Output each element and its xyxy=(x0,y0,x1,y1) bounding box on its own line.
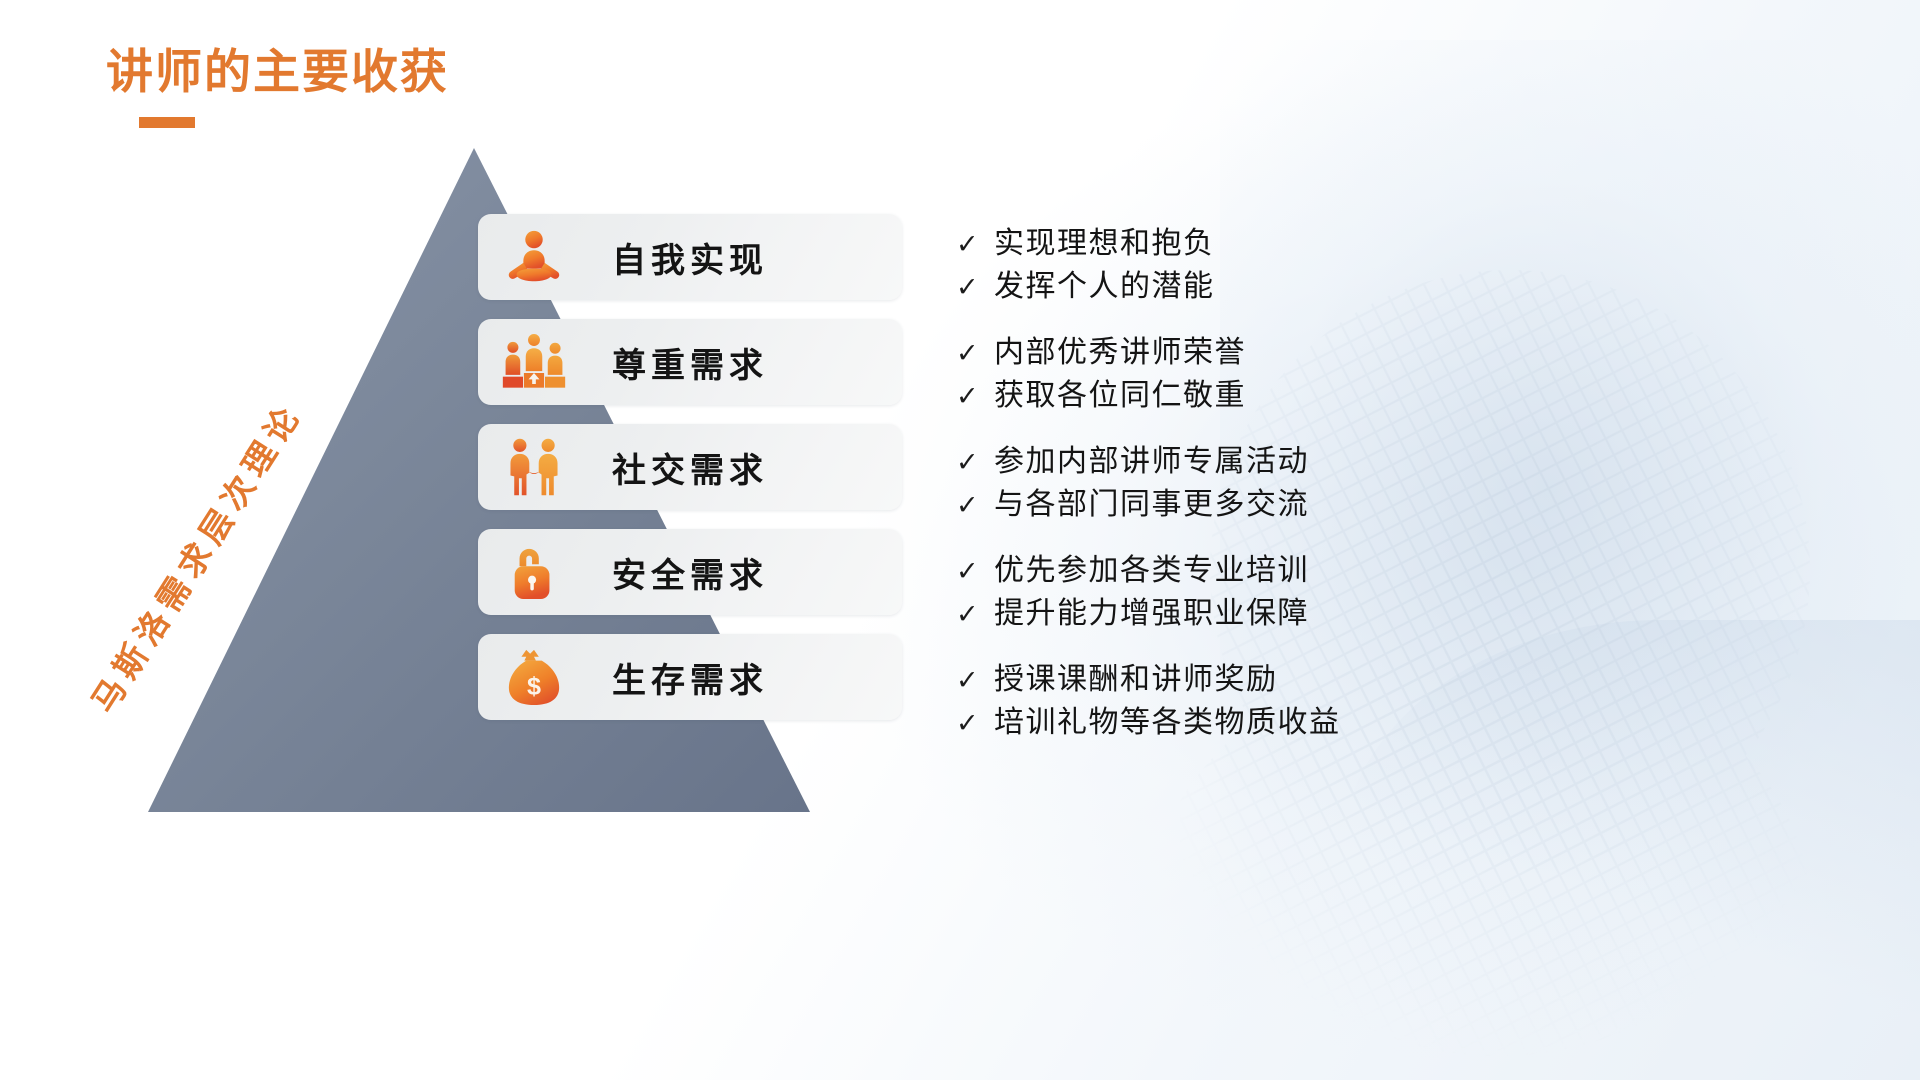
benefit-text: 获取各位同仁敬重 xyxy=(994,374,1246,417)
benefit-item: ✓ 内部优秀讲师荣誉 xyxy=(956,331,1516,374)
benefits-list: ✓ 实现理想和抱负 ✓ 发挥个人的潜能 ✓ 内部优秀讲师荣誉 ✓ 获取各位同仁敬… xyxy=(956,222,1516,767)
needs-level-row[interactable]: $ 生存需求 xyxy=(478,634,902,720)
benefit-group: ✓ 实现理想和抱负 ✓ 发挥个人的潜能 xyxy=(956,222,1516,308)
needs-level-list: 自我实现 xyxy=(478,214,902,739)
benefit-text: 提升能力增强职业保障 xyxy=(994,592,1309,635)
check-icon: ✓ xyxy=(956,659,994,702)
benefit-text: 内部优秀讲师荣誉 xyxy=(994,331,1246,374)
benefit-text: 发挥个人的潜能 xyxy=(994,265,1215,308)
benefit-item: ✓ 培训礼物等各类物质收益 xyxy=(956,701,1516,744)
benefit-text: 授课课酬和讲师奖励 xyxy=(994,658,1278,701)
benefit-item: ✓ 获取各位同仁敬重 xyxy=(956,374,1516,417)
svg-text:$: $ xyxy=(527,672,541,700)
benefit-group: ✓ 参加内部讲师专属活动 ✓ 与各部门同事更多交流 xyxy=(956,440,1516,526)
check-icon: ✓ xyxy=(956,593,994,636)
needs-level-row[interactable]: 自我实现 xyxy=(478,214,902,300)
needs-level-label: 自我实现 xyxy=(612,233,768,282)
benefit-text: 与各部门同事更多交流 xyxy=(994,483,1309,526)
check-icon: ✓ xyxy=(956,550,994,593)
title-underline-accent xyxy=(139,117,195,128)
benefit-group: ✓ 内部优秀讲师荣誉 ✓ 获取各位同仁敬重 xyxy=(956,331,1516,417)
benefit-text: 优先参加各类专业培训 xyxy=(994,549,1309,592)
money-bag-icon: $ xyxy=(478,634,590,720)
check-icon: ✓ xyxy=(956,702,994,745)
check-icon: ✓ xyxy=(956,441,994,484)
benefit-item: ✓ 优先参加各类专业培训 xyxy=(956,549,1516,592)
padlock-icon xyxy=(478,529,590,615)
needs-level-label: 安全需求 xyxy=(612,548,768,597)
check-icon: ✓ xyxy=(956,484,994,527)
benefit-item: ✓ 授课课酬和讲师奖励 xyxy=(956,658,1516,701)
benefit-item: ✓ 发挥个人的潜能 xyxy=(956,265,1516,308)
page-title: 讲师的主要收获 xyxy=(106,33,449,102)
benefit-text: 参加内部讲师专属活动 xyxy=(994,440,1309,483)
check-icon: ✓ xyxy=(956,332,994,375)
needs-level-label: 社交需求 xyxy=(612,443,768,492)
podium-icon xyxy=(478,319,590,405)
benefit-group: ✓ 授课课酬和讲师奖励 ✓ 培训礼物等各类物质收益 xyxy=(956,658,1516,744)
benefit-group: ✓ 优先参加各类专业培训 ✓ 提升能力增强职业保障 xyxy=(956,549,1516,635)
needs-level-row[interactable]: 尊重需求 xyxy=(478,319,902,405)
benefit-text: 培训礼物等各类物质收益 xyxy=(994,701,1341,744)
benefit-text: 实现理想和抱负 xyxy=(994,222,1215,265)
benefit-item: ✓ 参加内部讲师专属活动 xyxy=(956,440,1516,483)
check-icon: ✓ xyxy=(956,375,994,418)
slide-canvas: 讲师的主要收获 马斯洛需求层次理论 xyxy=(0,0,1920,1080)
benefit-item: ✓ 与各部门同事更多交流 xyxy=(956,483,1516,526)
needs-level-label: 生存需求 xyxy=(612,653,768,702)
needs-level-label: 尊重需求 xyxy=(612,338,768,387)
meditation-icon xyxy=(478,214,590,300)
benefit-item: ✓ 提升能力增强职业保障 xyxy=(956,592,1516,635)
handshake-icon xyxy=(478,424,590,510)
check-icon: ✓ xyxy=(956,266,994,309)
needs-level-row[interactable]: 社交需求 xyxy=(478,424,902,510)
needs-level-row[interactable]: 安全需求 xyxy=(478,529,902,615)
check-icon: ✓ xyxy=(956,223,994,266)
benefit-item: ✓ 实现理想和抱负 xyxy=(956,222,1516,265)
